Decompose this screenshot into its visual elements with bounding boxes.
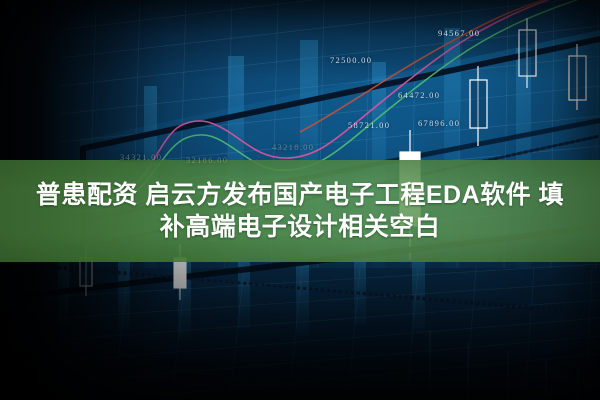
price-label: 94567.00 xyxy=(438,28,480,38)
price-label: 58721.00 xyxy=(348,120,390,130)
price-label: 34321.00 xyxy=(120,152,162,162)
banner-image: 94567.0072500.0064472.0058721.0067896.00… xyxy=(0,0,600,400)
headline-line-1: 普患配资 启云方发布国产电子工程EDA软件 填 xyxy=(36,182,564,208)
headline-line-2: 补高端电子设计相关空白 xyxy=(160,214,441,240)
price-label: 67896.00 xyxy=(418,118,460,128)
headline-block: 普患配资 启云方发布国产电子工程EDA软件 填 补高端电子设计相关空白 xyxy=(0,160,600,262)
price-label: 72500.00 xyxy=(330,55,372,65)
price-label: 43218.00 xyxy=(272,142,314,152)
price-label: 64472.00 xyxy=(398,90,440,100)
price-label: 32186.00 xyxy=(186,155,228,165)
